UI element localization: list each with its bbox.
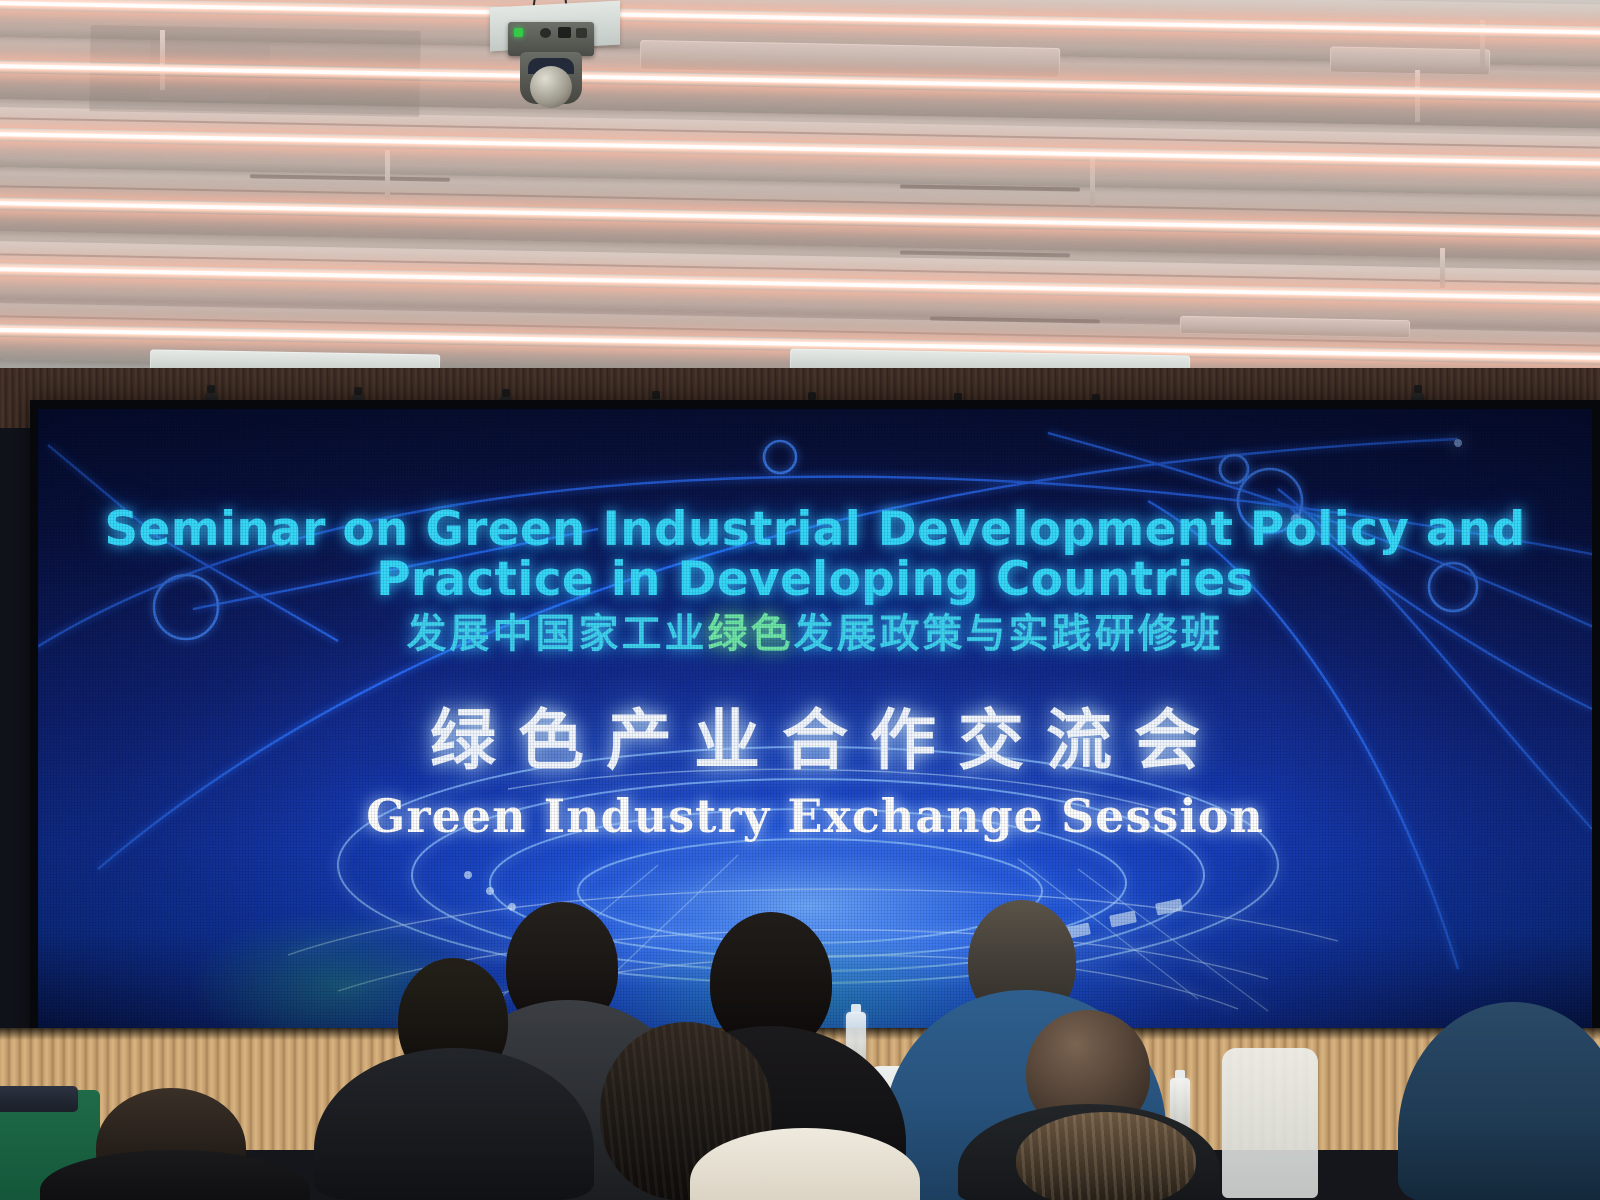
slide-subtitle-cn-part2: 发展政策与实践研修班 bbox=[794, 611, 1224, 657]
attendee-head bbox=[1016, 1112, 1196, 1200]
camera-port bbox=[558, 27, 571, 38]
ceiling-fastener-row bbox=[900, 251, 1070, 258]
chair-back bbox=[1222, 1048, 1318, 1198]
slide-heading-en-line1: Seminar on Green Industrial Development … bbox=[38, 505, 1592, 555]
slide-subtitle-cn: 发展中国家工业绿色发展政策与实践研修班 bbox=[38, 601, 1592, 659]
slide-subtitle-cn-part1: 发展中国家工业 bbox=[407, 611, 708, 657]
ceiling-hanger bbox=[1440, 248, 1445, 288]
camera-port bbox=[540, 28, 551, 38]
equipment-case-lid bbox=[0, 1086, 78, 1112]
slide-title-cn: 绿色产业合作交流会 bbox=[38, 687, 1592, 783]
slide-subtitle-cn-green: 绿色 bbox=[708, 611, 794, 657]
ceiling-camera-rig bbox=[480, 0, 630, 160]
ceiling-hanger bbox=[385, 150, 390, 200]
conference-hall-photo: Seminar on Green Industrial Development … bbox=[0, 0, 1600, 1200]
slide-heading-en: Seminar on Green Industrial Development … bbox=[38, 505, 1592, 605]
slide-heading-en-line2: Practice in Developing Countries bbox=[38, 555, 1592, 605]
slide-title-en: Green Industry Exchange Session bbox=[38, 789, 1592, 843]
camera-status-led bbox=[514, 28, 523, 37]
ceiling-hanger bbox=[160, 30, 165, 90]
ceiling-air-vent bbox=[1330, 46, 1490, 75]
camera-lens-dome bbox=[530, 66, 572, 108]
camera-port bbox=[576, 28, 587, 38]
ceiling bbox=[0, 0, 1600, 392]
